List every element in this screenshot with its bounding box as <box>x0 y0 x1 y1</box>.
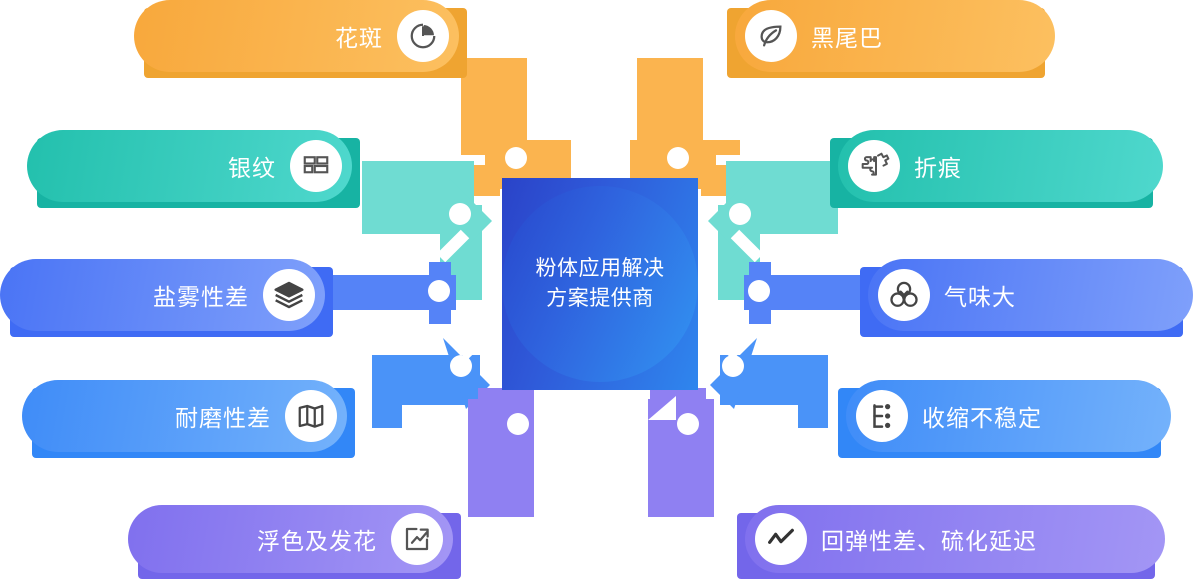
item-naimoxingcha[interactable]: 耐磨性差 <box>22 380 347 452</box>
leaf-icon <box>745 10 797 62</box>
center-hub-label: 粉体应用解决 方案提供商 <box>502 254 698 314</box>
sitemap-icon <box>856 390 908 442</box>
connector-fusejifahua <box>468 388 534 517</box>
item-label: 黑尾巴 <box>811 19 883 53</box>
item-label: 气味大 <box>944 278 1016 312</box>
item-label: 花斑 <box>335 19 383 53</box>
item-zhehen[interactable]: 折痕 <box>838 130 1163 202</box>
line-chart-icon <box>755 513 807 565</box>
pill-body[interactable]: 回弹性差、硫化延迟 <box>745 505 1165 573</box>
item-qiweida[interactable]: 气味大 <box>868 259 1193 331</box>
item-label: 折痕 <box>914 149 962 183</box>
infographic-canvas: 粉体应用解决 方案提供商 花斑 银纹 <box>0 0 1193 577</box>
item-yinwen[interactable]: 银纹 <box>27 130 352 202</box>
pill-body[interactable]: 黑尾巴 <box>735 0 1055 72</box>
item-label: 收缩不稳定 <box>922 399 1042 433</box>
recycle-icon <box>878 269 930 321</box>
connector-huitanxingcha <box>648 388 714 517</box>
item-label: 浮色及发花 <box>257 522 377 556</box>
pie-chart-icon <box>397 10 449 62</box>
item-huitanxingcha[interactable]: 回弹性差、硫化延迟 <box>745 505 1165 573</box>
pill-body[interactable]: 盐雾性差 <box>0 259 325 331</box>
item-label: 盐雾性差 <box>153 278 249 312</box>
layers-icon <box>263 269 315 321</box>
pill-body[interactable]: 浮色及发花 <box>128 505 453 573</box>
item-yanwuxingcha[interactable]: 盐雾性差 <box>0 259 325 331</box>
item-label: 耐磨性差 <box>175 399 271 433</box>
open-book-icon <box>285 390 337 442</box>
item-shousuobuwending[interactable]: 收缩不稳定 <box>846 380 1171 452</box>
pill-body[interactable]: 气味大 <box>868 259 1193 331</box>
brick-wall-icon <box>290 140 342 192</box>
item-label: 银纹 <box>228 149 276 183</box>
item-fusejifahua[interactable]: 浮色及发花 <box>128 505 453 573</box>
pill-body[interactable]: 折痕 <box>838 130 1163 202</box>
connector-yanwuxingcha <box>332 262 456 324</box>
pill-body[interactable]: 银纹 <box>27 130 352 202</box>
center-hub: 粉体应用解决 方案提供商 <box>502 178 698 390</box>
item-label: 回弹性差、硫化延迟 <box>821 522 1037 556</box>
pill-body[interactable]: 耐磨性差 <box>22 380 347 452</box>
connector-qiweida <box>744 262 868 324</box>
chart-arrow-icon <box>391 513 443 565</box>
puzzle-icon <box>848 140 900 192</box>
item-heiweiba[interactable]: 黑尾巴 <box>735 0 1055 72</box>
item-huaban[interactable]: 花斑 <box>134 0 459 72</box>
pill-body[interactable]: 收缩不稳定 <box>846 380 1171 452</box>
connector-shousuobuwending <box>710 330 828 428</box>
pill-body[interactable]: 花斑 <box>134 0 459 72</box>
